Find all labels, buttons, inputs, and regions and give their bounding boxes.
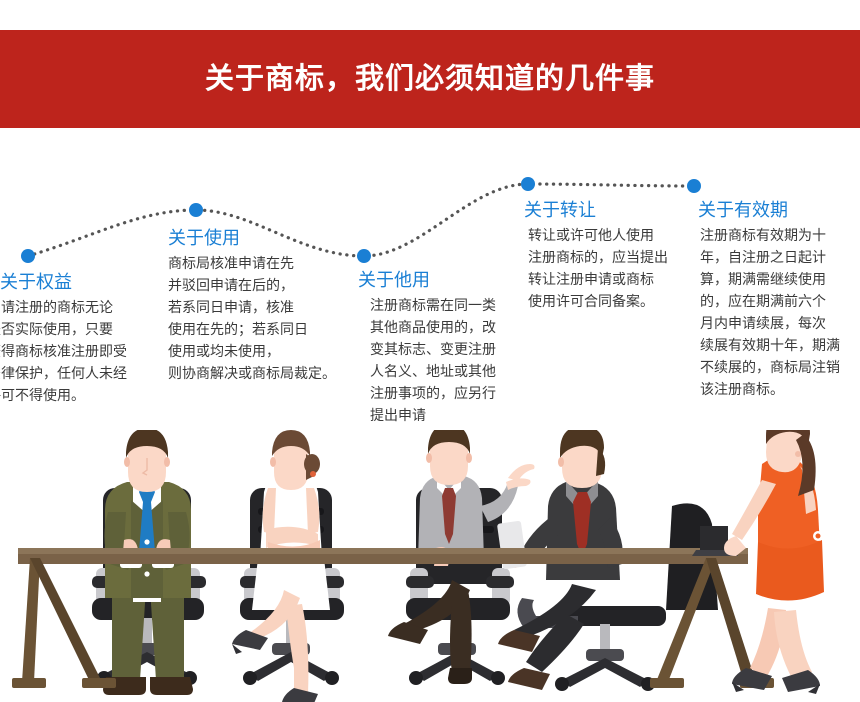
body-line: 则协商解决或商标局裁定。 [168, 362, 328, 384]
column-body: 转让或许可他人使用 注册商标的，应当提出 转让注册申请或商标 使用许可合同备案。 [524, 224, 684, 312]
body-line: 注册商标需在同一类 [370, 294, 518, 316]
info-column-rights: 关于权益 申请注册的商标无论 是否实际使用，只要 获得商标核准注册即受 法律保护… [0, 270, 162, 406]
info-column-other-use: 关于他用 注册商标需在同一类 其他商品使用的，改 变其标志、变更注册 人名义、地… [358, 268, 518, 426]
info-column-validity: 关于有效期 注册商标有效期为十 年，自注册之日起计 算，期满需继续使用 的，应在… [698, 198, 858, 400]
body-line: 注册商标的，应当提出 [528, 246, 684, 268]
body-line: 该注册商标。 [700, 378, 858, 400]
body-line: 年，自注册之日起计 [700, 246, 858, 268]
meeting-illustration [0, 430, 860, 702]
header-banner: 关于商标，我们必须知道的几件事 [0, 30, 860, 128]
body-line: 获得商标核准注册即受 [0, 340, 162, 362]
figure-woman-white-dress [232, 430, 344, 702]
body-line: 并驳回申请在后的， [168, 274, 328, 296]
body-line: 续展有效期十年，期满 [700, 334, 858, 356]
body-line: 变其标志、变更注册 [370, 338, 518, 360]
timeline-node-3[interactable] [357, 249, 371, 263]
column-body: 注册商标需在同一类 其他商品使用的，改 变其标志、变更注册 人名义、地址或其他 … [358, 294, 518, 426]
body-line: 许可不得使用。 [0, 384, 162, 406]
column-body: 商标局核准申请在先 并驳回申请在后的， 若系同日申请，核准 使用在先的；若系同日… [168, 252, 328, 384]
column-heading: 关于转让 [524, 198, 684, 222]
body-line: 申请注册的商标无论 [0, 296, 162, 318]
body-line: 算，期满需继续使用 [700, 268, 858, 290]
body-line: 使用在先的；若系同日 [168, 318, 328, 340]
timeline-node-5[interactable] [687, 179, 701, 193]
body-line: 人名义、地址或其他 [370, 360, 518, 382]
body-line: 法律保护，任何人未经 [0, 362, 162, 384]
column-body: 申请注册的商标无论 是否实际使用，只要 获得商标核准注册即受 法律保护，任何人未… [0, 296, 162, 406]
column-heading: 关于使用 [168, 226, 328, 250]
page-title: 关于商标，我们必须知道的几件事 [205, 65, 655, 94]
body-line: 的，应在期满前六个 [700, 290, 858, 312]
body-line: 使用或均未使用， [168, 340, 328, 362]
timeline-node-4[interactable] [521, 177, 535, 191]
infographic-page: 关于商标，我们必须知道的几件事 关于权益 申请注册的商标无论 是否实际使用，只要… [0, 0, 860, 702]
body-line: 转让注册申请或商标 [528, 268, 684, 290]
info-column-usage: 关于使用 商标局核准申请在先 并驳回申请在后的， 若系同日申请，核准 使用在先的… [168, 226, 328, 384]
body-line: 转让或许可他人使用 [528, 224, 684, 246]
body-line: 注册商标有效期为十 [700, 224, 858, 246]
body-line: 不续展的，商标局注销 [700, 356, 858, 378]
body-line: 若系同日申请，核准 [168, 296, 328, 318]
info-column-transfer: 关于转让 转让或许可他人使用 注册商标的，应当提出 转让注册申请或商标 使用许可… [524, 198, 684, 312]
body-line: 其他商品使用的，改 [370, 316, 518, 338]
timeline-node-2[interactable] [189, 203, 203, 217]
column-heading: 关于有效期 [698, 198, 858, 222]
body-line: 商标局核准申请在先 [168, 252, 328, 274]
body-line: 提出申请 [370, 404, 518, 426]
body-line: 月内申请续展，每次 [700, 312, 858, 334]
column-body: 注册商标有效期为十 年，自注册之日起计 算，期满需继续使用 的，应在期满前六个 … [698, 224, 858, 400]
column-heading: 关于权益 [0, 270, 162, 294]
body-line: 是否实际使用，只要 [0, 318, 162, 340]
body-line: 注册事项的，应另行 [370, 382, 518, 404]
body-line: 使用许可合同备案。 [528, 290, 684, 312]
column-heading: 关于他用 [358, 268, 518, 292]
timeline-node-1[interactable] [21, 249, 35, 263]
